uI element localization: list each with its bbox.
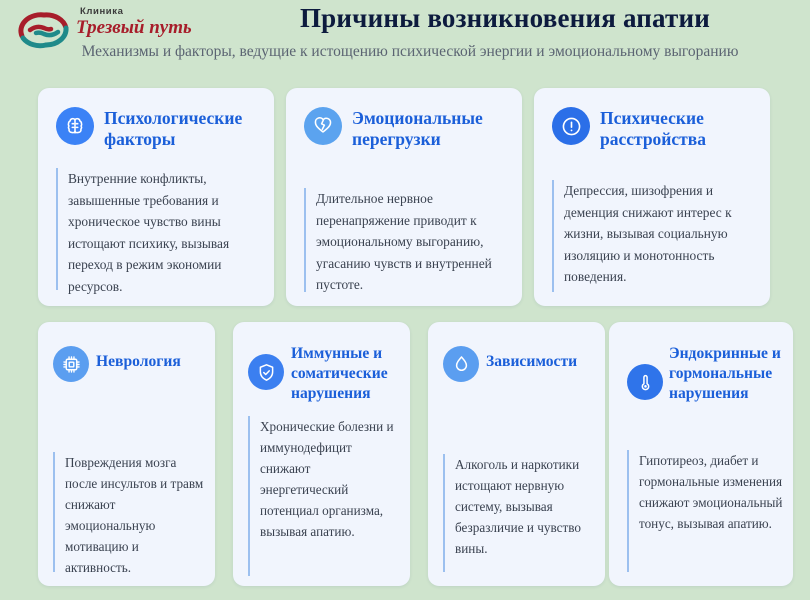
logo-kicker: Клиника [80,6,206,17]
card-body: Повреждения мозга после инсультов и трав… [53,452,205,572]
card-neurology: Неврология Повреждения мозга после инсул… [38,322,215,586]
logo-name: Трезвый путь [76,17,206,38]
thermometer-icon [627,364,663,400]
card-body: Длительное нервное перенапряжение привод… [304,188,512,292]
card-title: Психологические факторы [104,108,264,150]
card-emotional-overload: Эмоциональные перегрузки Длительное нерв… [286,88,522,306]
card-title: Эндокринные и гормональные нарушения [669,344,787,404]
page-header: Клиника Трезвый путь Причины возникновен… [0,0,810,76]
cpu-chip-icon [53,346,89,382]
card-addictions: Зависимости Алкоголь и наркотики истощаю… [428,322,605,586]
alert-circle-icon [552,107,590,145]
card-body: Хронические болезни и иммунодефицит сниж… [248,416,400,576]
infographic-page: Клиника Трезвый путь Причины возникновен… [0,0,810,600]
page-title: Причины возникновения апатии [205,2,805,34]
card-immune-somatic-disorders: Иммунные и соматические нарушения Хронич… [233,322,410,586]
card-endocrine-hormonal-disorders: Эндокринные и гормональные нарушения Гип… [609,322,793,586]
card-title: Иммунные и соматические нарушения [291,344,403,404]
card-title: Эмоциональные перегрузки [352,108,512,150]
card-body: Депрессия, шизофрения и деменция снижают… [552,180,760,292]
card-title: Зависимости [486,352,598,372]
card-body: Алкоголь и наркотики истощают нервную си… [443,454,595,572]
brain-icon [56,107,94,145]
card-body: Внутренние конфликты, завышенные требова… [56,168,264,290]
card-body: Гипотиреоз, диабет и гормональные измене… [627,450,785,572]
card-title: Неврология [96,352,208,372]
shield-check-icon [248,354,284,390]
page-subtitle: Механизмы и факторы, ведущие к истощению… [40,42,780,62]
card-title: Психические расстройства [600,108,760,150]
water-drop-icon [443,346,479,382]
card-mental-disorders: Психические расстройства Депрессия, шизо… [534,88,770,306]
card-psychological-factors: Психологические факторы Внутренние конфл… [38,88,274,306]
clinic-logo-text: Клиника Трезвый путь [76,6,206,38]
broken-heart-icon [304,107,342,145]
